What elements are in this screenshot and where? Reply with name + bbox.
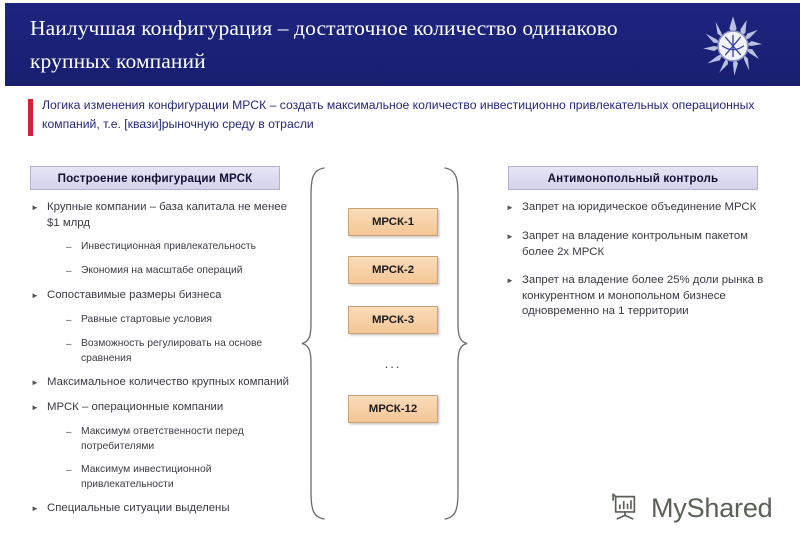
list-item-label: Запрет на юридическое объединение МРСК bbox=[522, 200, 773, 216]
subtitle-text: Логика изменения конфигурации МРСК – соз… bbox=[42, 96, 782, 134]
list-item-label: Максимальное количество крупных компаний bbox=[47, 375, 298, 391]
right-panel-heading: Антимонопольный контроль bbox=[508, 166, 758, 190]
mrsk-box-3[interactable]: МРСК-3 bbox=[348, 306, 438, 334]
list-item: ►Специальные ситуации выделены bbox=[30, 501, 298, 517]
list-item-label: Максимум ответственности перед потребите… bbox=[81, 425, 298, 454]
list-item-label: Экономия на масштабе операций bbox=[81, 264, 298, 279]
list-item-label: МРСК – операционные компании bbox=[47, 400, 298, 416]
bullet-triangle-icon: ► bbox=[505, 273, 522, 289]
list-item: ►МРСК – операционные компании bbox=[30, 400, 298, 416]
page-title: Наилучшая конфигурация – достаточное кол… bbox=[30, 12, 660, 78]
right-panel-bullet-list: ►Запрет на юридическое объединение МРСК … bbox=[505, 200, 773, 329]
bullet-triangle-icon: ► bbox=[30, 501, 47, 517]
list-item: ►Запрет на владение контрольным пакетом … bbox=[505, 229, 773, 260]
list-item: –Равные стартовые условия bbox=[30, 313, 298, 328]
mrsk-box-12[interactable]: МРСК-12 bbox=[348, 395, 438, 423]
list-item-label: Сопоставимые размеры бизнеса bbox=[47, 288, 298, 304]
list-item: –Инвестиционная привлекательность bbox=[30, 240, 298, 255]
list-item: –Экономия на масштабе операций bbox=[30, 264, 298, 279]
list-item: ►Сопоставимые размеры бизнеса bbox=[30, 288, 298, 304]
bullet-dash-icon: – bbox=[66, 425, 81, 440]
list-item: ►Запрет на юридическое объединение МРСК bbox=[505, 200, 773, 216]
bullet-triangle-icon: ► bbox=[505, 229, 522, 245]
list-item-label: Равные стартовые условия bbox=[81, 313, 298, 328]
list-item-label: Возможность регулировать на основе сравн… bbox=[81, 337, 298, 366]
list-item: ►Крупные компании – база капитала не мен… bbox=[30, 200, 298, 231]
list-item: –Максимум ответственности перед потребит… bbox=[30, 425, 298, 454]
mrsk-box-2[interactable]: МРСК-2 bbox=[348, 256, 438, 284]
bullet-dash-icon: – bbox=[66, 463, 81, 478]
subtitle-strip: Логика изменения конфигурации МРСК – соз… bbox=[5, 96, 795, 140]
bullet-triangle-icon: ► bbox=[505, 200, 522, 216]
bullet-triangle-icon: ► bbox=[30, 288, 47, 304]
list-item-label: Инвестиционная привлекательность bbox=[81, 240, 298, 255]
list-item-label: Максимум инвестиционной привлекательност… bbox=[81, 463, 298, 492]
subtitle-accent-bar bbox=[28, 99, 33, 136]
watermark-label: MyShared bbox=[651, 493, 772, 524]
list-item-label: Запрет на владение контрольным пакетом б… bbox=[522, 229, 773, 260]
bullet-dash-icon: – bbox=[66, 313, 81, 328]
bullet-triangle-icon: ► bbox=[30, 200, 47, 216]
left-panel-bullet-list: ►Крупные компании – база капитала не мен… bbox=[30, 200, 298, 526]
list-item: ►Максимальное количество крупных компани… bbox=[30, 375, 298, 391]
rao-ues-sunburst-emblem-icon bbox=[702, 15, 764, 77]
bullet-triangle-icon: ► bbox=[30, 400, 47, 416]
list-item: –Максимум инвестиционной привлекательнос… bbox=[30, 463, 298, 492]
list-item-label: Запрет на владение более 25% доли рынка … bbox=[522, 273, 773, 320]
bullet-dash-icon: – bbox=[66, 264, 81, 279]
mrsk-box-1[interactable]: МРСК-1 bbox=[348, 208, 438, 236]
list-item: –Возможность регулировать на основе срав… bbox=[30, 337, 298, 366]
list-item: ►Запрет на владение более 25% доли рынка… bbox=[505, 273, 773, 320]
presentation-chart-board-icon bbox=[608, 489, 642, 528]
myshared-watermark: MyShared bbox=[608, 489, 772, 528]
ellipsis-indicator: ... bbox=[348, 356, 438, 371]
left-panel-heading: Построение конфигурации МРСК bbox=[30, 166, 280, 190]
bullet-dash-icon: – bbox=[66, 240, 81, 255]
slide-header-band: Наилучшая конфигурация – достаточное кол… bbox=[5, 3, 800, 86]
list-item-label: Крупные компании – база капитала не мене… bbox=[47, 200, 298, 231]
bullet-triangle-icon: ► bbox=[30, 375, 47, 391]
curly-brace-left-icon bbox=[300, 166, 326, 526]
list-item-label: Специальные ситуации выделены bbox=[47, 501, 298, 517]
slide-canvas: Наилучшая конфигурация – достаточное кол… bbox=[0, 0, 800, 554]
bullet-dash-icon: – bbox=[66, 337, 81, 352]
curly-brace-right-icon bbox=[443, 166, 469, 526]
